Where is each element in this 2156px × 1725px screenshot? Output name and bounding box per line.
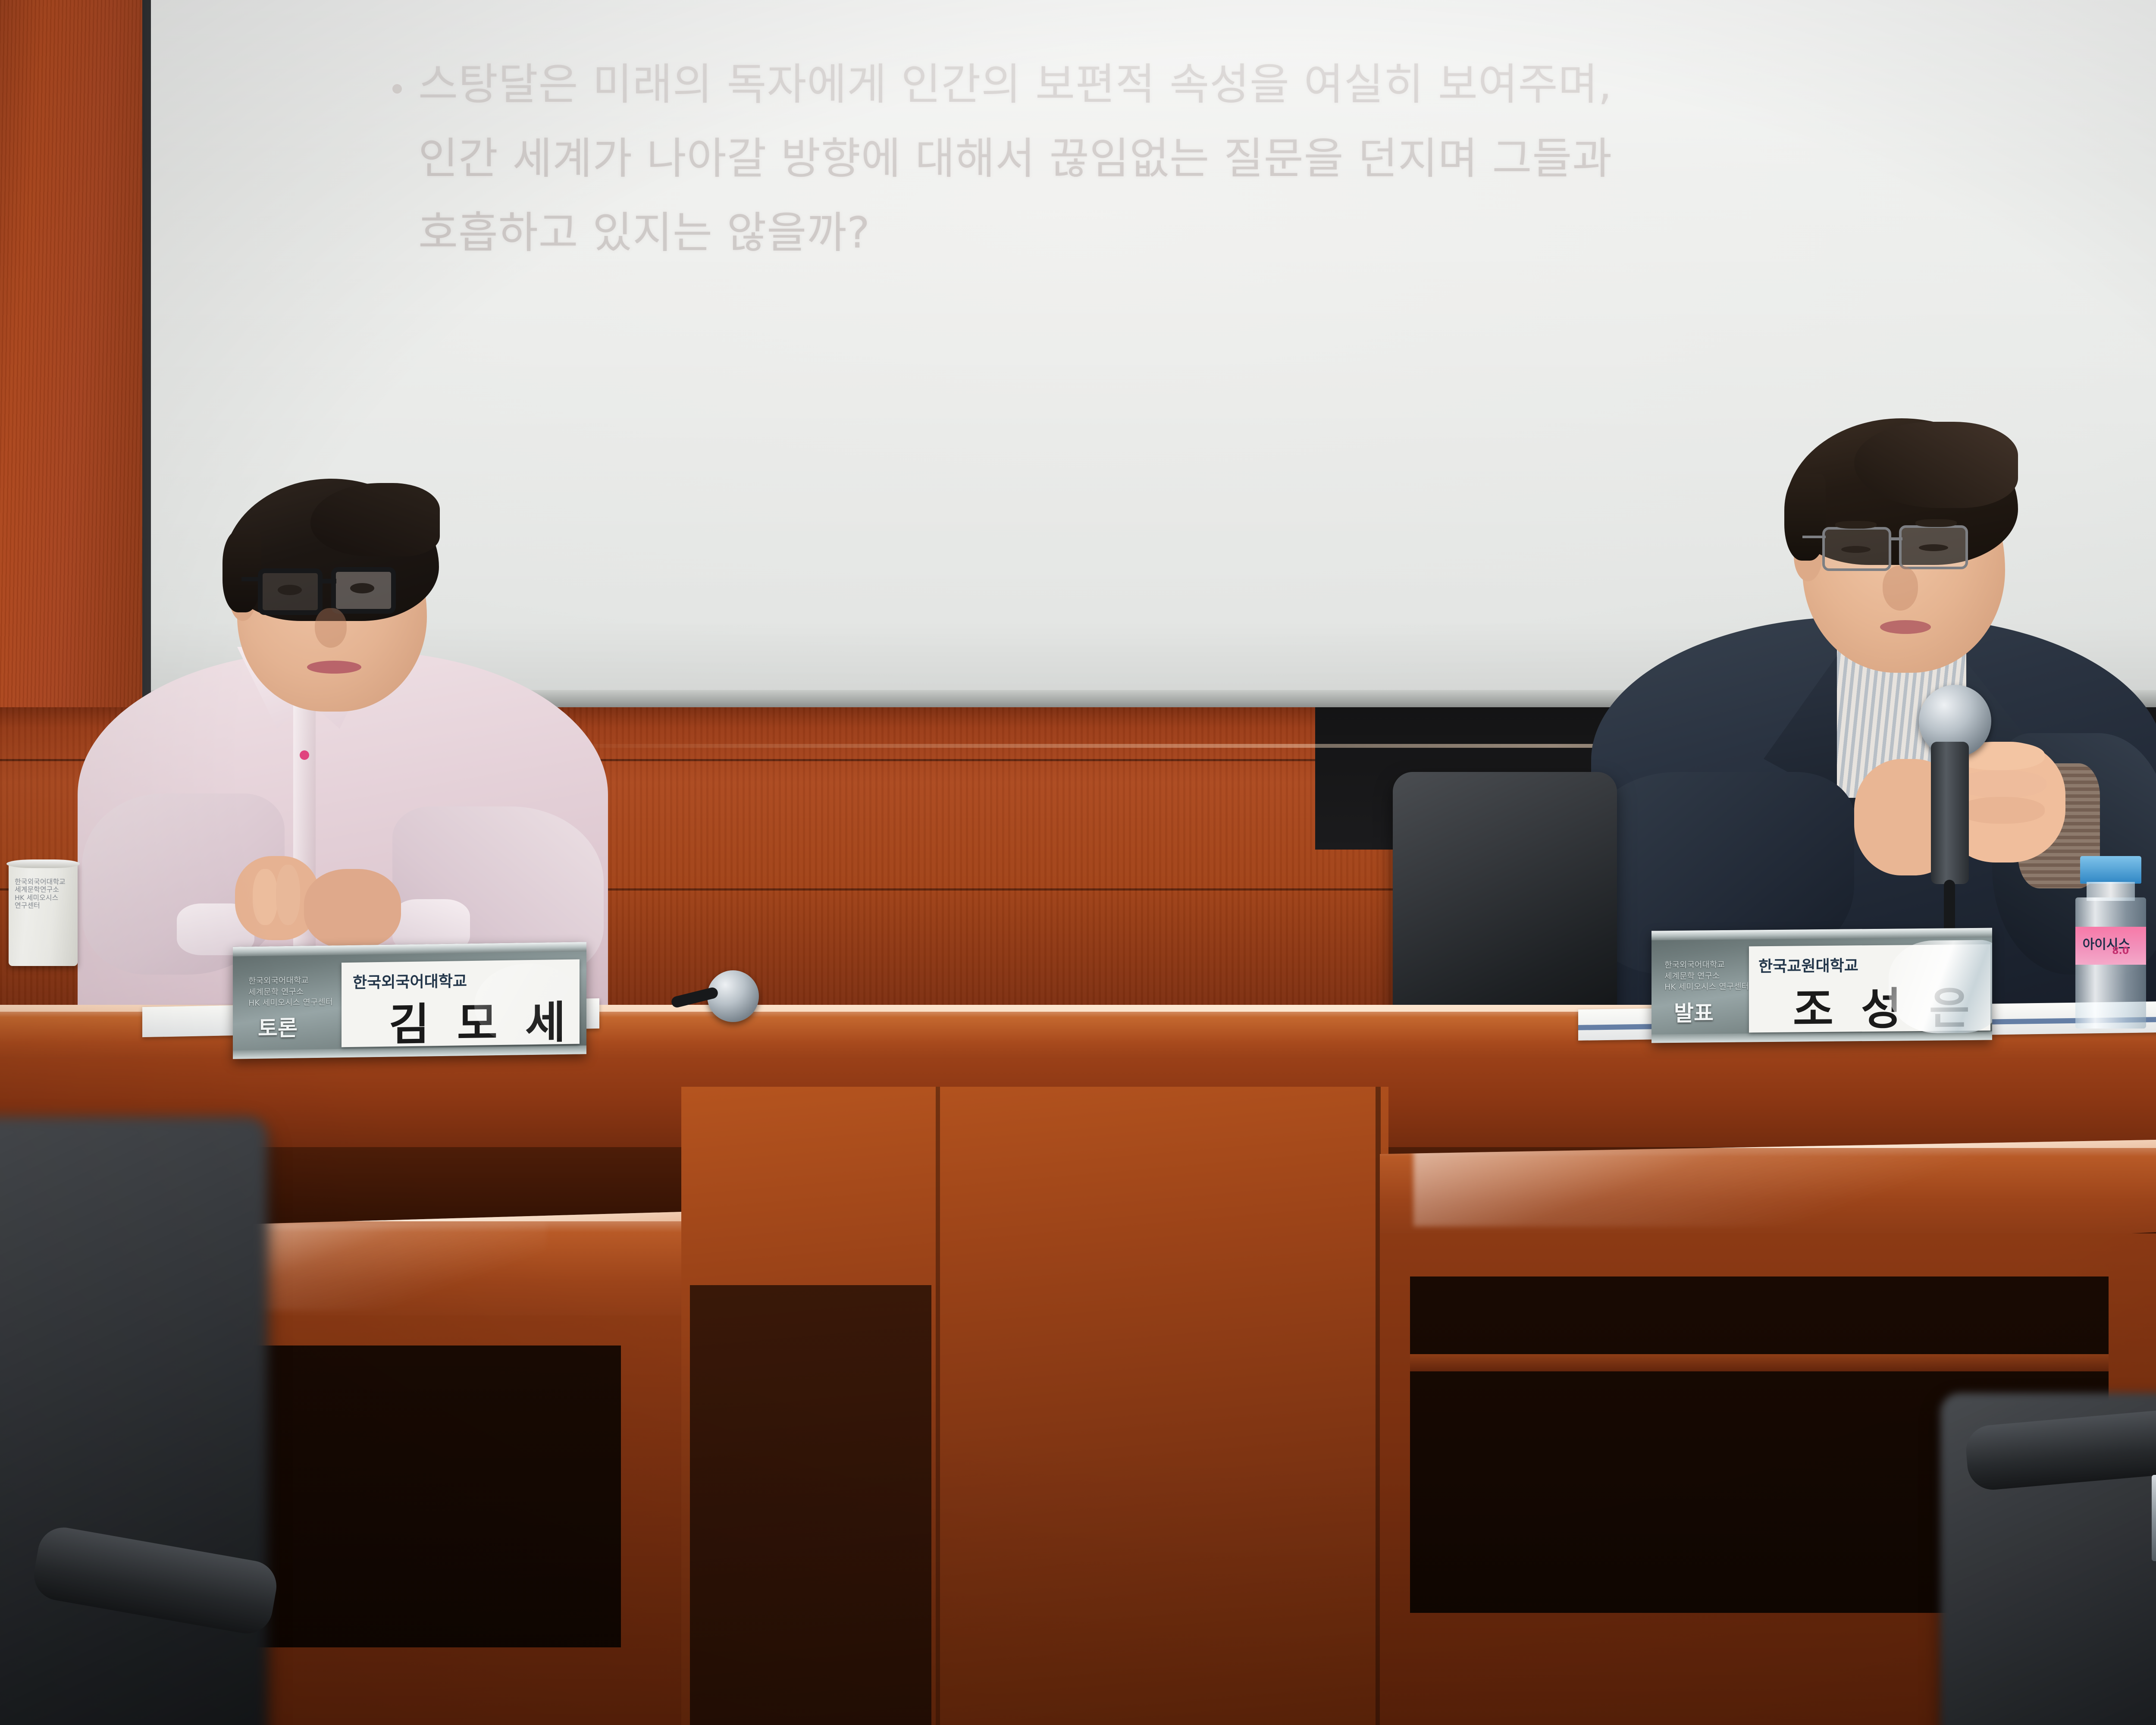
nameplate-right-card-org: 한국교원대학교 xyxy=(1758,953,1858,976)
nameplate-right: 한국외국어대학교 세계문학 연구소 HK 세미오시스 연구센터 발표 한국교원대… xyxy=(1651,928,1992,1043)
person-right-glasses-temple xyxy=(1802,536,1826,538)
person-left-eye-right xyxy=(350,583,374,593)
water-bottle-cap xyxy=(2080,856,2142,884)
person-left-eye-left xyxy=(278,585,302,595)
slide-line-2: 인간 세계가 나아갈 방향에 대해서 끊임없는 질문을 던지며 그들과 xyxy=(418,122,2156,196)
person-right-brow-left xyxy=(1835,521,1877,529)
person-right-mouth xyxy=(1880,620,1931,634)
person-left-hand-right xyxy=(304,869,401,949)
slide-bullet-icon xyxy=(392,84,402,94)
paper-cup-left-rim xyxy=(6,859,80,868)
person-left-nose xyxy=(315,608,347,648)
person-right-brow-right xyxy=(1915,519,1957,527)
person-left-glasses-bridge xyxy=(321,579,336,583)
person-right-finger-b xyxy=(1958,770,2046,798)
paper-cup-left-print: 한국외국어대학교 세계문학연구소 HK 세미오시스 연구센터 xyxy=(15,878,72,910)
person-left-mouth xyxy=(307,661,361,674)
foreground-chair-bottom-left[interactable] xyxy=(0,1117,267,1725)
nameplate-left-org-small: 한국외국어대학교 세계문학 연구소 HK 세미오시스 연구센터 xyxy=(248,975,348,1009)
nameplate-left-role-label: 토론 xyxy=(258,1011,298,1042)
person-left-hair-side xyxy=(222,530,261,612)
nameplate-left-card-name: 김 모 세 xyxy=(389,987,572,1053)
nameplate-right-org-small: 한국외국어대학교 세계문학 연구소 HK 세미오시스 연구센터 xyxy=(1664,959,1759,993)
person-right-eye-left xyxy=(1841,546,1871,553)
person-right-hair-side xyxy=(1784,474,1826,561)
nameplate-right-card-name: 조 성 은 xyxy=(1793,973,1976,1038)
foreground-chair-arm-metal-bracket xyxy=(2152,1475,2156,1561)
person-right-nose xyxy=(1883,566,1918,611)
nameplate-left: 한국외국어대학교 세계문학 연구소 HK 세미오시스 연구센터 토론 한국외국어… xyxy=(233,942,586,1059)
handheld-microphone-body[interactable] xyxy=(1931,742,1969,884)
nameplate-right-role-label: 발표 xyxy=(1674,996,1714,1027)
foreground-desk-right-gloss xyxy=(1413,1149,2005,1226)
person-left-finger-a xyxy=(253,869,278,925)
slide-line-1: 스탕달은 미래의 독자에게 인간의 보편적 속성을 여실히 보여주며, xyxy=(418,47,2156,122)
person-left-glasses-temple xyxy=(241,577,262,581)
empty-chair-center[interactable] xyxy=(1393,772,1617,1013)
water-bottle-sub-text: 8.0 xyxy=(2112,946,2129,957)
slide-line-3: 호흡하고 있지는 않을까? xyxy=(418,196,2156,270)
paper-cup-left[interactable]: 한국외국어대학교 세계문학연구소 HK 세미오시스 연구센터 xyxy=(9,862,78,966)
person-right-glasses-bridge xyxy=(1890,537,1902,540)
foreground-desk-center-seam-a xyxy=(936,1087,940,1725)
person-left-button-1 xyxy=(300,750,309,760)
seminar-photograph: 스탕달은 미래의 독자에게 인간의 보편적 속성을 여실히 보여주며, 인간 세… xyxy=(0,0,2156,1725)
nameplate-left-card: 한국외국어대학교 김 모 세 xyxy=(342,959,580,1047)
foreground-desk-center-cavity xyxy=(690,1285,931,1725)
nameplate-right-card: 한국교원대학교 조 성 은 xyxy=(1749,944,1990,1033)
person-left-finger-b xyxy=(276,865,300,925)
person-right-eye-right xyxy=(1919,544,1948,551)
water-bottle-label: 아이시스 8.0 xyxy=(2075,927,2146,965)
water-bottle-right[interactable]: 아이시스 8.0 xyxy=(2074,856,2147,1029)
person-right-finger-c xyxy=(1959,797,2045,824)
slide-text-block: 스탕달은 미래의 독자에게 인간의 보편적 속성을 여실히 보여주며, 인간 세… xyxy=(418,47,2156,270)
foreground-desk-right-divider xyxy=(1410,1354,2109,1371)
